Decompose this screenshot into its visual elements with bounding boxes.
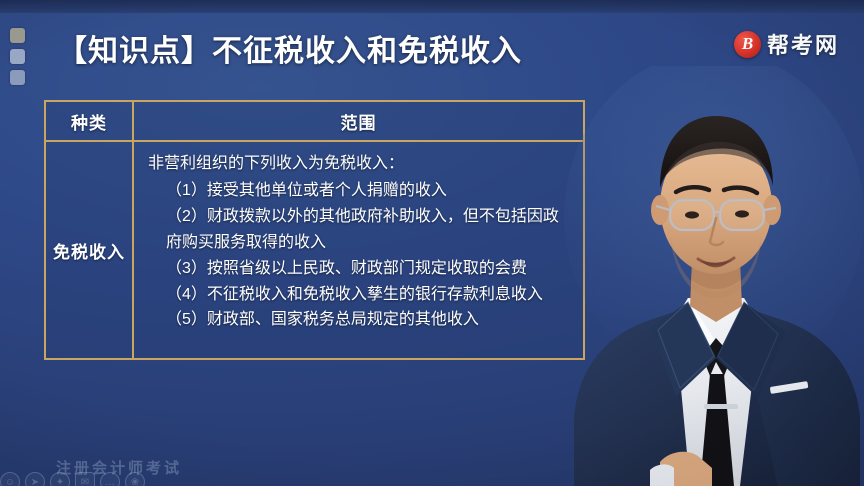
watermark-text: 注册会计师考试: [56, 457, 182, 478]
finder-icon[interactable]: ☺: [0, 472, 20, 486]
marker-dot-3: [10, 70, 25, 85]
table-cell-scope: 非营利组织的下列收入为免税收入： （1）接受其他单位或者个人捐赠的收入 （2）财…: [134, 142, 583, 358]
list-item: （2）财政拨款以外的其他政府补助收入，但不包括因政府购买服务取得的收入: [148, 204, 573, 256]
cursor-icon[interactable]: ➤: [25, 472, 45, 486]
slide-marker-dots: [10, 28, 25, 85]
marker-dot-2: [10, 49, 25, 64]
brand-mark-letter: B: [742, 35, 753, 52]
list-item: （1）接受其他单位或者个人捐赠的收入: [148, 178, 573, 204]
knowledge-table: 种类 范围 免税收入 非营利组织的下列收入为免税收入： （1）接受其他单位或者个…: [44, 100, 585, 360]
table-header-scope: 范围: [134, 102, 583, 140]
table-row: 免税收入 非营利组织的下列收入为免税收入： （1）接受其他单位或者个人捐赠的收入…: [46, 142, 583, 358]
slide-title: 【知识点】不征税收入和免税收入: [57, 26, 522, 70]
list-item: （4）不征税收入和免税收入孳生的银行存款利息收入: [148, 282, 573, 308]
scope-item-list: （1）接受其他单位或者个人捐赠的收入 （2）财政拨款以外的其他政府补助收入，但不…: [148, 178, 573, 333]
marker-dot-1: [10, 28, 25, 43]
top-bar: [0, 0, 864, 13]
brand-logo: B 帮考网: [734, 28, 839, 60]
table-cell-kind: 免税收入: [46, 142, 134, 358]
scope-lead-text: 非营利组织的下列收入为免税收入：: [148, 151, 573, 177]
brand-name: 帮考网: [767, 28, 839, 60]
presenter-video: [564, 66, 864, 486]
table-header-kind: 种类: [46, 102, 134, 140]
brand-b-icon: B: [734, 31, 761, 58]
list-item: （5）财政部、国家税务总局规定的其他收入: [148, 307, 573, 333]
list-item: （3）按照省级以上民政、财政部门规定收取的会费: [148, 256, 573, 282]
slide-stage: 【知识点】不征税收入和免税收入 B 帮考网 种类 范围 免税收入 非营利组织的下…: [0, 0, 864, 486]
table-header-row: 种类 范围: [46, 102, 583, 142]
